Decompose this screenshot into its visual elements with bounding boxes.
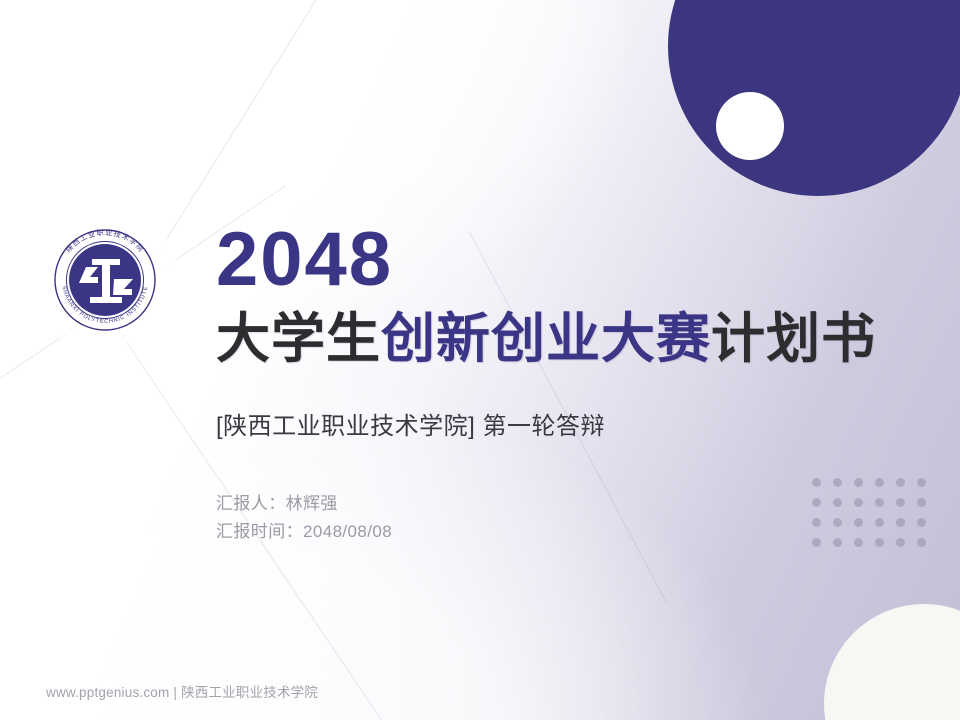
title-segment-2: 计划书 [711, 309, 876, 369]
grid-dot [875, 538, 884, 547]
decorative-circle-white-small [716, 92, 784, 160]
grid-dot [833, 538, 842, 547]
slide-subtitle: [陕西工业职业技术学院] 第一轮答辩 [216, 406, 605, 441]
grid-dot [896, 538, 905, 547]
university-logo: 陕西工业职业技术学院 SHAANXI POLYTECHNIC INSTITUTE [46, 221, 164, 339]
grid-dot [833, 498, 842, 507]
title-segment-1: 创新创业大赛 [381, 309, 711, 369]
grid-dot [812, 498, 821, 507]
grid-dot [812, 538, 821, 547]
grid-dot [854, 538, 863, 547]
grid-dot [896, 498, 905, 507]
slide-title: 大学生创新创业大赛计划书 [216, 308, 876, 372]
grid-dot [917, 498, 926, 507]
grid-dot [854, 478, 863, 487]
grid-dot [812, 478, 821, 487]
title-segment-0: 大学生 [216, 309, 381, 369]
slide-year: 2048 [216, 222, 393, 298]
slide-footer: www.pptgenius.com | 陕西工业职业技术学院 [46, 681, 318, 701]
date-line: 汇报时间：2048/08/08 [216, 518, 392, 546]
grid-dot [812, 518, 821, 527]
grid-dot [896, 478, 905, 487]
grid-dot [875, 518, 884, 527]
decorative-dot-grid [812, 478, 938, 558]
presenter-line: 汇报人：林辉强 [216, 490, 392, 518]
grid-dot [917, 478, 926, 487]
grid-dot [854, 518, 863, 527]
grid-dot [875, 498, 884, 507]
grid-dot [917, 538, 926, 547]
grid-dot [896, 518, 905, 527]
presentation-slide: 陕西工业职业技术学院 SHAANXI POLYTECHNIC INSTITUTE… [0, 0, 960, 720]
presentation-meta: 汇报人：林辉强 汇报时间：2048/08/08 [216, 490, 392, 545]
grid-dot [854, 498, 863, 507]
grid-dot [875, 478, 884, 487]
grid-dot [833, 518, 842, 527]
grid-dot [833, 478, 842, 487]
university-emblem-icon: 陕西工业职业技术学院 SHAANXI POLYTECHNIC INSTITUTE [46, 221, 164, 339]
grid-dot [917, 518, 926, 527]
